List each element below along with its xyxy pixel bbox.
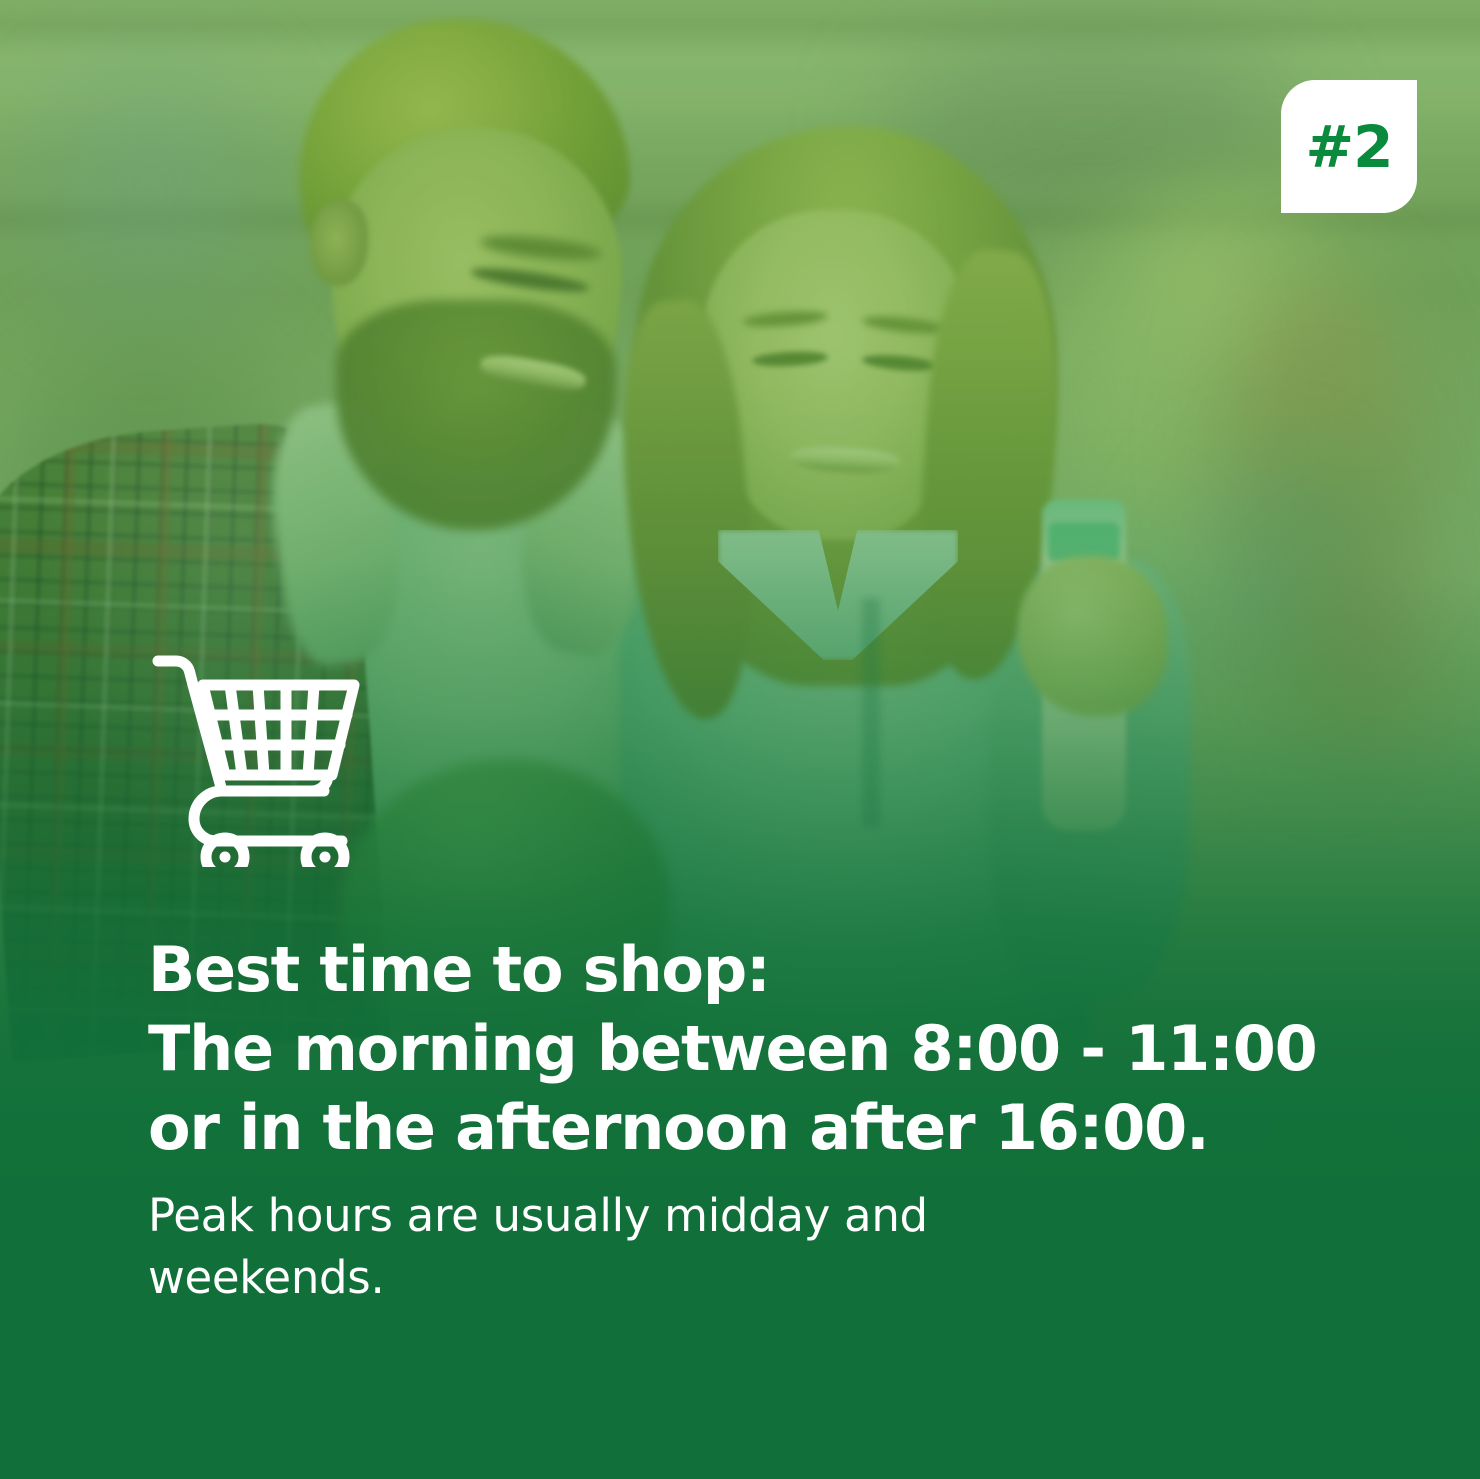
shopping-cart-icon — [146, 645, 372, 867]
promo-card: #2 Be — [0, 0, 1480, 1479]
number-badge-label: #2 — [1306, 118, 1393, 176]
text-block: Best time to shop: The morning between 8… — [148, 930, 1338, 1309]
subtext: Peak hours are usually midday and weeken… — [148, 1185, 1108, 1309]
number-badge: #2 — [1281, 80, 1417, 213]
headline: Best time to shop: The morning between 8… — [148, 930, 1338, 1167]
